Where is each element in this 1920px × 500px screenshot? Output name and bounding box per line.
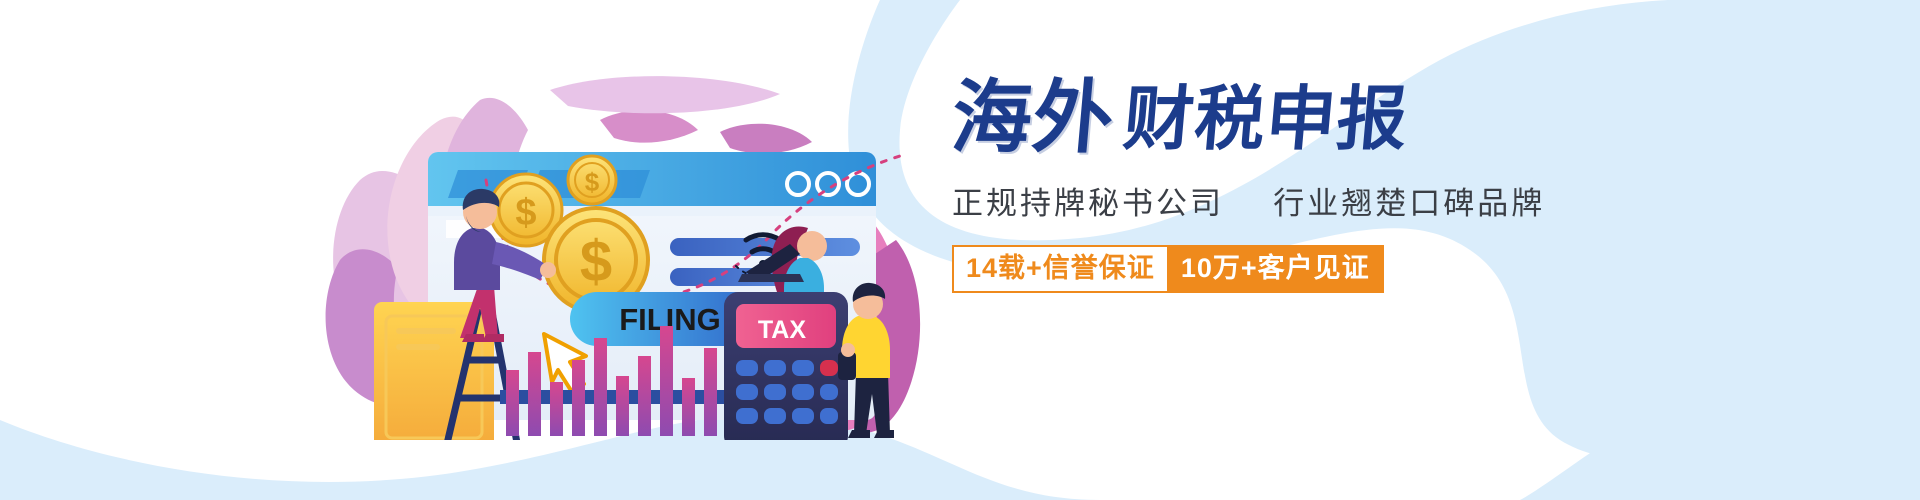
man-hand [540, 262, 556, 278]
calculator-display-label: TAX [758, 316, 806, 344]
headline: 海外 财税申报 [952, 78, 1672, 158]
promo-banner: $ $ $ [0, 0, 1920, 500]
headline-sub: 财税申报 [1121, 84, 1411, 154]
svg-text:$: $ [580, 229, 612, 294]
svg-text:$: $ [585, 167, 600, 197]
man2-shoe [848, 430, 870, 438]
subtitle-left: 正规持牌秘书公司 [952, 186, 1224, 221]
text-block: 海外 财税申报 正规持牌秘书公司 行业翘楚口碑品牌 14载+信誉保证 10万+客… [952, 78, 1672, 293]
badge-row: 14载+信誉保证 10万+客户见证 [952, 245, 1384, 293]
badge-customer-proof: 10万+客户见证 [1167, 245, 1384, 293]
laptop-base [738, 274, 804, 282]
coin: $ [568, 156, 616, 204]
tax-filing-illustration: $ $ $ [300, 60, 940, 440]
svg-text:$: $ [515, 192, 536, 234]
headline-main: 海外 [949, 78, 1118, 158]
subtitle: 正规持牌秘书公司 行业翘楚口碑品牌 [952, 178, 1672, 223]
badge-credit-guarantee: 14载+信誉保证 [952, 245, 1167, 293]
woman-head [797, 231, 827, 261]
calculator: TAX [724, 292, 848, 440]
subtitle-right: 行业翘楚口碑品牌 [1273, 186, 1545, 221]
